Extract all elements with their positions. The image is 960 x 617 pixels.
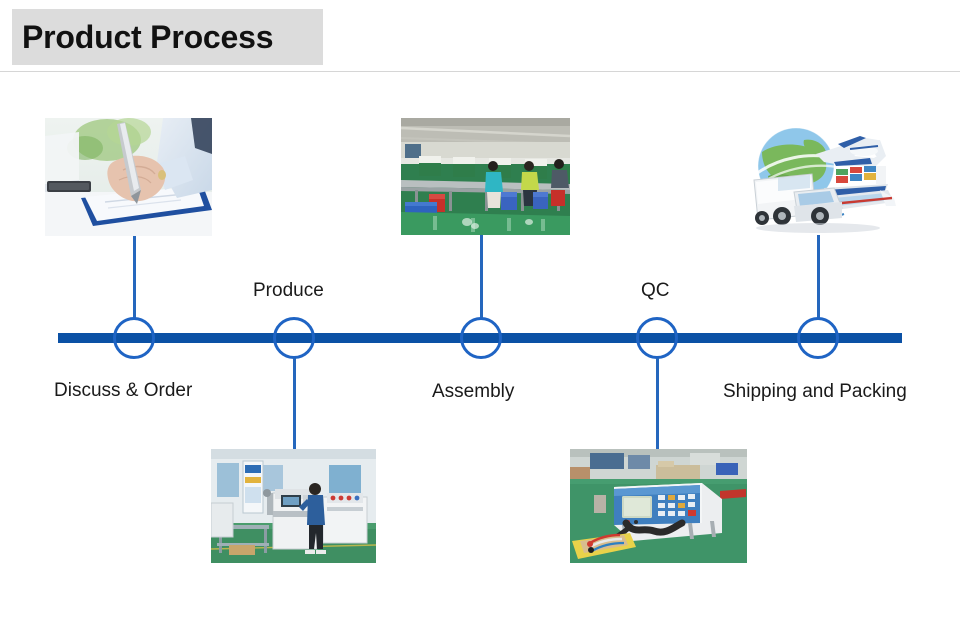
photo-discuss-order [45,118,212,236]
node-label-qc: QC [641,281,670,300]
photo-assembly [401,118,570,235]
photo-produce-art [211,449,376,563]
node-label-discuss-order: Discuss & Order [54,381,192,400]
node-label-produce: Produce [253,281,324,300]
photo-shipping-packing [738,118,900,235]
connector-produce [293,358,296,453]
photo-qc-art [570,449,747,563]
page-title-box: Product Process [12,9,323,65]
photo-shipping-packing-art [738,118,900,235]
photo-qc [570,449,747,563]
photo-discuss-order-art [45,118,212,236]
connector-shipping-packing [817,235,820,320]
node-marker-shipping-packing[interactable] [797,317,839,359]
node-label-shipping-packing: Shipping and Packing [723,382,907,401]
photo-assembly-art [401,118,570,235]
node-marker-qc[interactable] [636,317,678,359]
connector-assembly [480,235,483,320]
node-marker-assembly[interactable] [460,317,502,359]
header-divider [0,71,960,72]
node-marker-discuss-order[interactable] [113,317,155,359]
page-title: Product Process [12,21,273,53]
slide-canvas: Product Process [0,0,960,617]
connector-qc [656,358,659,451]
photo-produce [211,449,376,563]
connector-discuss-order [133,236,136,320]
node-label-assembly: Assembly [432,382,514,401]
node-marker-produce[interactable] [273,317,315,359]
slide-header: Product Process [0,0,960,72]
